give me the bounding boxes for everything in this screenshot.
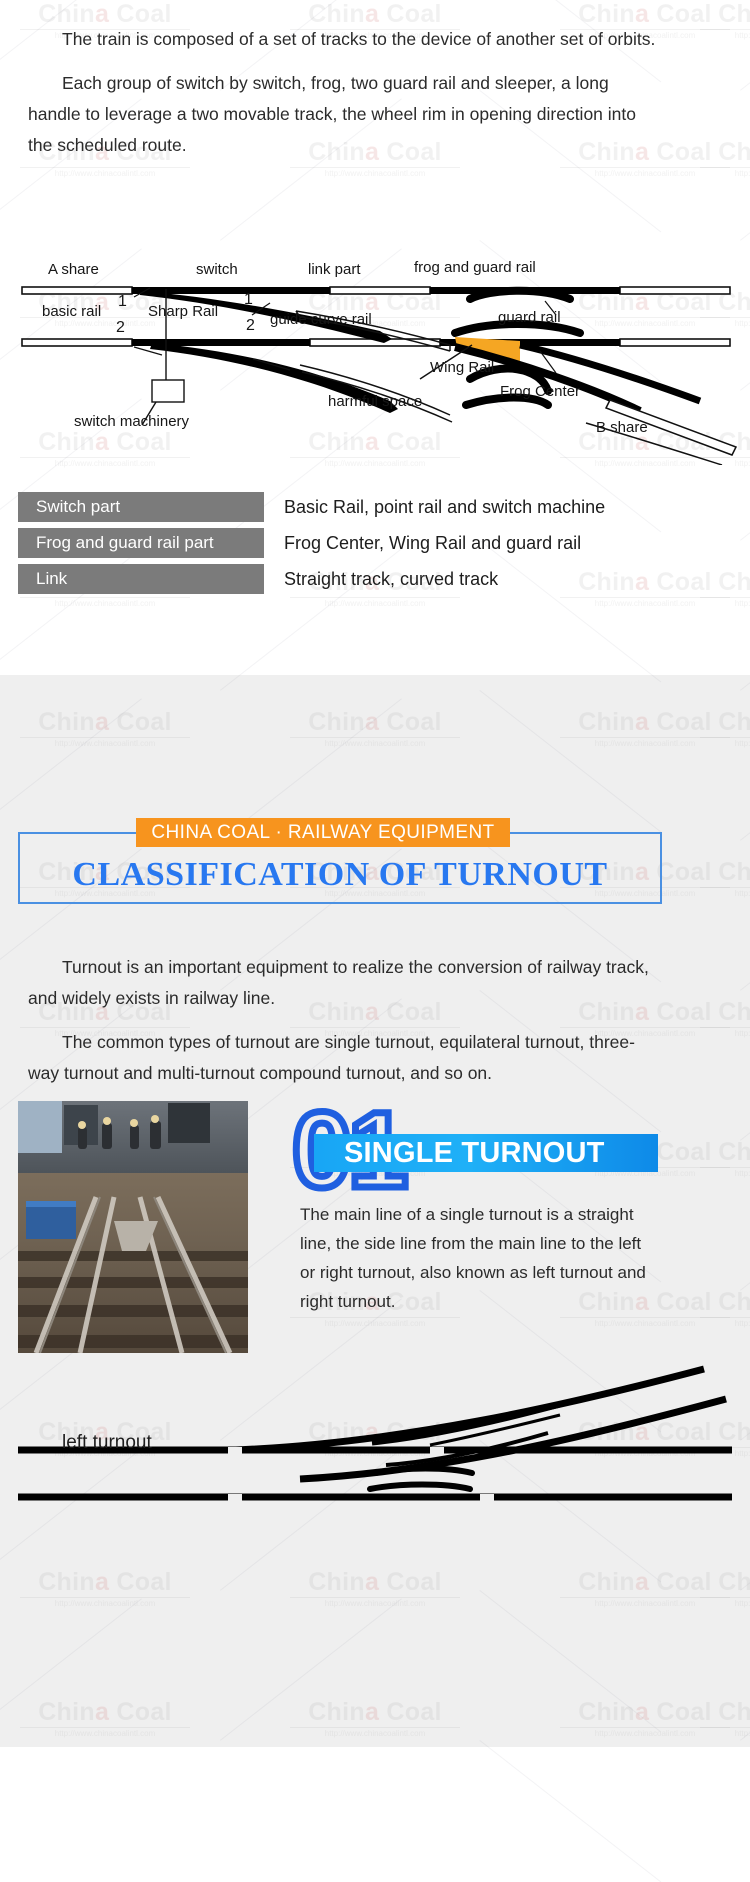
legend-value-link: Straight track, curved track <box>284 569 498 590</box>
legend-key-frog-and-guard-rail-part: Frog and guard rail part <box>18 528 264 558</box>
intro-paragraph-1: The train is composed of a set of tracks… <box>28 24 664 55</box>
page-title: CLASSIFICATION OF TURNOUT <box>18 853 662 897</box>
diagram-label-switch-machinery: switch machinery <box>74 413 189 430</box>
legend-value-switch-part: Basic Rail, point rail and switch machin… <box>284 497 605 518</box>
turnout-photo <box>18 1101 248 1353</box>
diagram-label-guide-curve-rail: guide curve rail <box>270 311 372 328</box>
diagram-label-sharp-rail: Sharp Rail <box>148 303 218 320</box>
diagram-label-basic-rail: basic rail <box>42 303 101 320</box>
turnout-structure-diagram: A share switch link part frog and guard … <box>0 255 750 465</box>
diagram-label-guard-rail: guard rail <box>498 309 561 326</box>
diagram-label-frog-and-guard-rail: frog and guard rail <box>414 259 536 276</box>
legend-row: Frog and guard rail part Frog Center, Wi… <box>18 528 733 558</box>
left-turnout-diagram <box>0 1355 750 1555</box>
diagram-label-b-share: B share <box>596 419 648 436</box>
diagram-label-link-part: link part <box>308 261 361 278</box>
section-badge: CHINA COAL · RAILWAY EQUIPMENT <box>136 818 510 847</box>
single-turnout-banner-label: SINGLE TURNOUT <box>314 1137 605 1170</box>
legend-key-switch-part: Switch part <box>18 492 264 522</box>
left-turnout-svg <box>0 1355 750 1555</box>
legend-row: Switch part Basic Rail, point rail and s… <box>18 492 733 522</box>
section-body-text: Turnout is an important equipment to rea… <box>28 952 660 1102</box>
diagram-label-number-1-left: 1 <box>118 293 127 311</box>
single-turnout-description: The main line of a single turnout is a s… <box>300 1200 660 1316</box>
diagram-label-number-1-mid: 1 <box>244 291 253 309</box>
diagram-label-number-2-left: 2 <box>116 319 125 337</box>
page-root: The train is composed of a set of tracks… <box>0 0 750 1747</box>
intro-paragraph-2: Each group of switch by switch, frog, tw… <box>28 68 664 161</box>
diagram-label-number-2-mid: 2 <box>246 317 255 335</box>
turnout-photo-image <box>18 1101 248 1353</box>
diagram-label-wing-rail: Wing Rail <box>430 359 494 376</box>
diagram-label-frog-center: Frog Center <box>500 383 580 400</box>
single-turnout-banner: SINGLE TURNOUT <box>314 1134 658 1172</box>
section-paragraph-2: The common types of turnout are single t… <box>28 1027 660 1089</box>
legend-value-frog-and-guard-rail-part: Frog Center, Wing Rail and guard rail <box>284 533 581 554</box>
intro-text-block: The train is composed of a set of tracks… <box>28 24 664 174</box>
left-turnout-label: left turnout <box>62 1432 152 1454</box>
diagram-label-switch: switch <box>196 261 238 278</box>
diagram-label-harmful-space: harmful space <box>328 393 422 410</box>
turnout-parts-legend: Switch part Basic Rail, point rail and s… <box>18 492 733 600</box>
legend-key-link: Link <box>18 564 264 594</box>
watermark-diagonal-line <box>479 1740 661 1882</box>
section-paragraph-1: Turnout is an important equipment to rea… <box>28 952 660 1014</box>
legend-row: Link Straight track, curved track <box>18 564 733 594</box>
diagram-label-a-share: A share <box>48 261 99 278</box>
